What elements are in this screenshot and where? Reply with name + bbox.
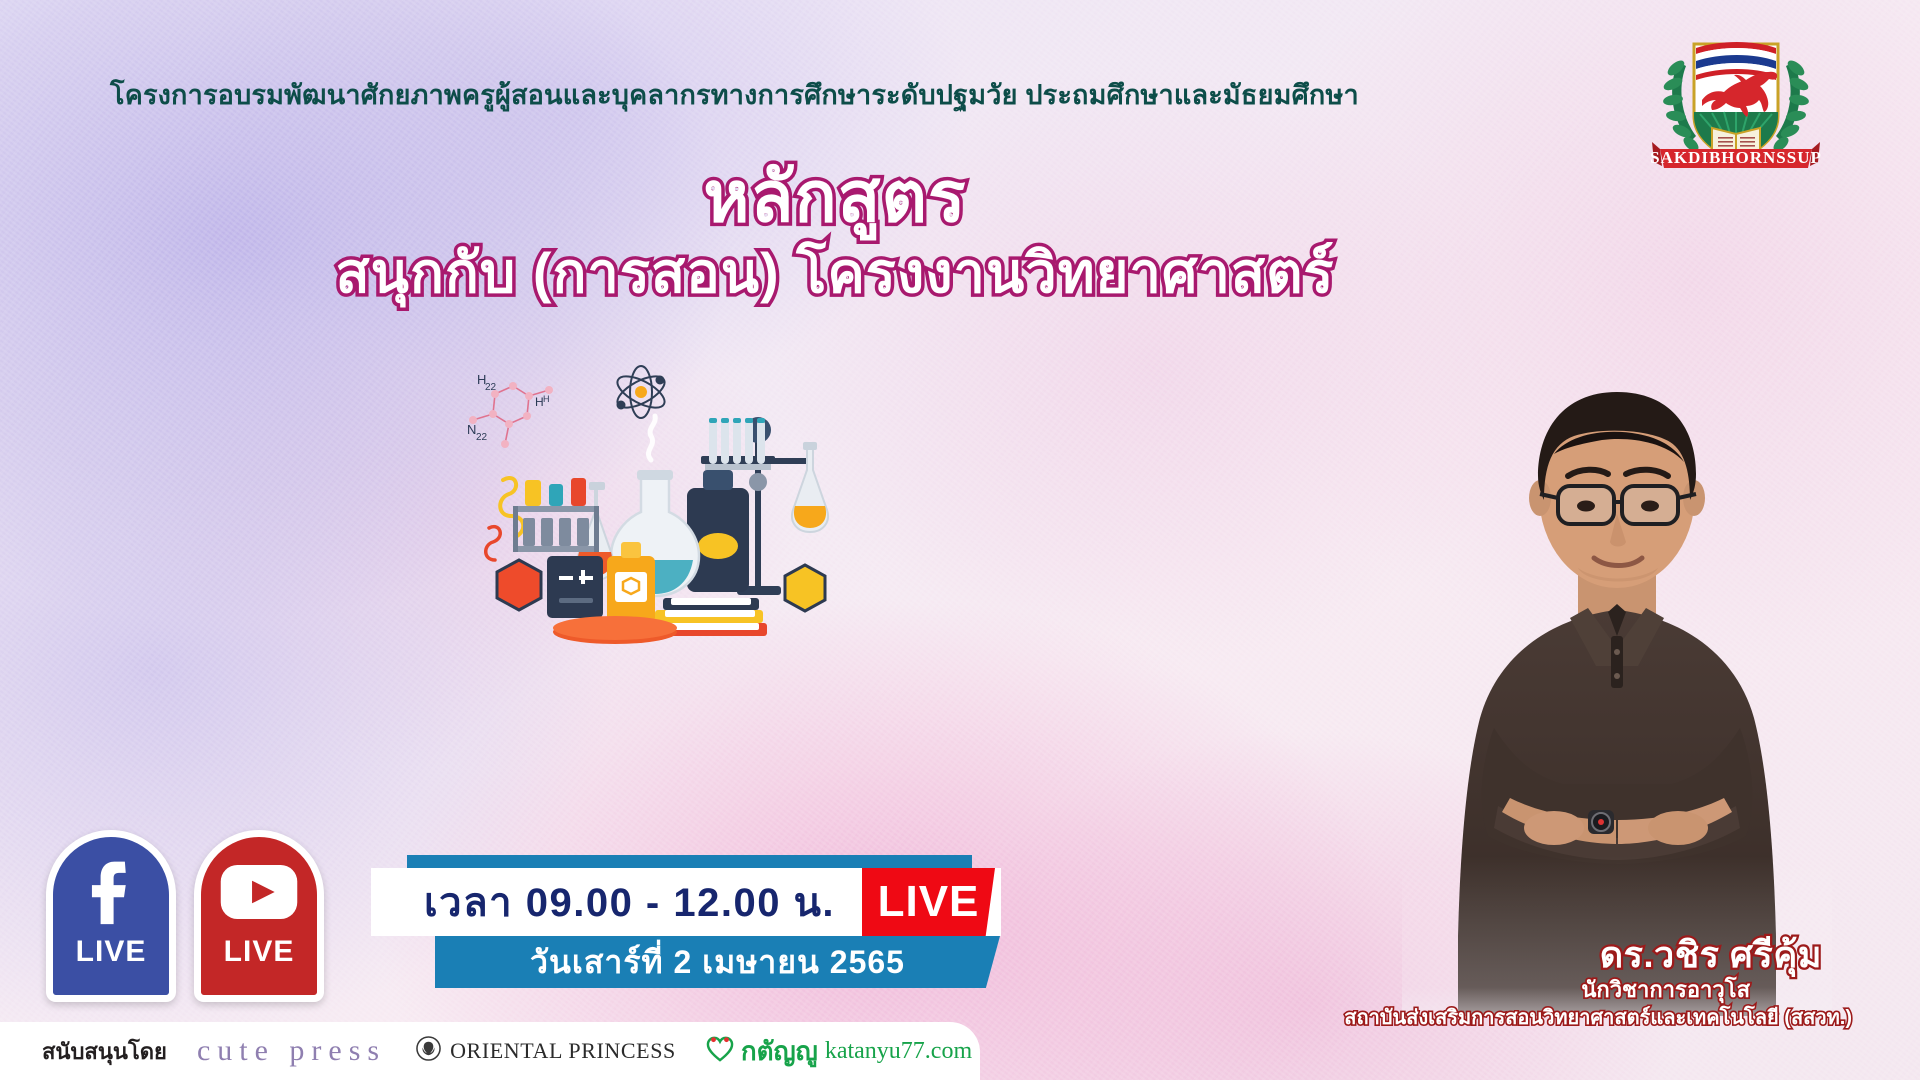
molecule-label-n: N [467, 422, 476, 437]
svg-text:22: 22 [476, 432, 488, 443]
science-lab-illustration: H 22 H H N 22 [455, 360, 885, 650]
program-headline: โครงการอบรมพัฒนาศักยภาพครูผู้สอนและบุคลา… [110, 73, 1290, 116]
sponsor-oriental-princess: ORIENTAL PRINCESS [416, 1036, 676, 1066]
sponsor-bar: สนับสนุนโดย cute press ORIENTAL PRINCESS [0, 1022, 980, 1080]
live-badge: LIVE [862, 868, 995, 936]
sponsor-katanyu-th: กตัญญู [741, 1031, 818, 1072]
sponsor-oriental-princess-label: ORIENTAL PRINCESS [450, 1038, 676, 1064]
youtube-icon [219, 853, 299, 931]
speaker-organization: สถาบันส่งเสริมการสอนวิทยาศาสตร์และเทคโนโ… [1344, 1001, 1852, 1033]
youtube-live-label: LIVE [224, 935, 295, 969]
schedule-date-label: วันเสาร์ที่ 2 เมษายน 2565 [530, 937, 905, 988]
youtube-live-button[interactable]: LIVE [194, 830, 324, 1002]
speaker-photo [1402, 336, 1832, 1016]
page-title-line2: สนุกกับ (การสอน) โครงงานวิทยาศาสตร์ [0, 228, 1795, 317]
facebook-icon [85, 853, 137, 931]
svg-text:H: H [543, 394, 550, 404]
sponsor-katanyu: กตัญญู katanyu77.com [706, 1031, 972, 1072]
sponsor-katanyu-url: katanyu77.com [825, 1038, 972, 1065]
svg-text:22: 22 [485, 382, 497, 393]
sponsor-cutepress: cute press [197, 1034, 386, 1068]
poster-canvas: SAKDIBHORNSSUP โครงการอบรมพัฒนาศักยภาพคร… [0, 0, 1920, 1080]
schedule-time-label: เวลา 09.00 - 12.00 น. [424, 870, 835, 934]
social-live-buttons: LIVE LIVE [46, 830, 324, 1002]
facebook-live-button[interactable]: LIVE [46, 830, 176, 1002]
schedule-top-rule [407, 855, 972, 868]
sponsor-intro-label: สนับสนุนโดย [42, 1034, 167, 1069]
katanyu-heart-icon [706, 1036, 734, 1067]
oriental-princess-flower-icon [416, 1036, 441, 1066]
schedule-date-box: วันเสาร์ที่ 2 เมษายน 2565 [435, 936, 1000, 988]
facebook-live-label: LIVE [76, 935, 147, 969]
